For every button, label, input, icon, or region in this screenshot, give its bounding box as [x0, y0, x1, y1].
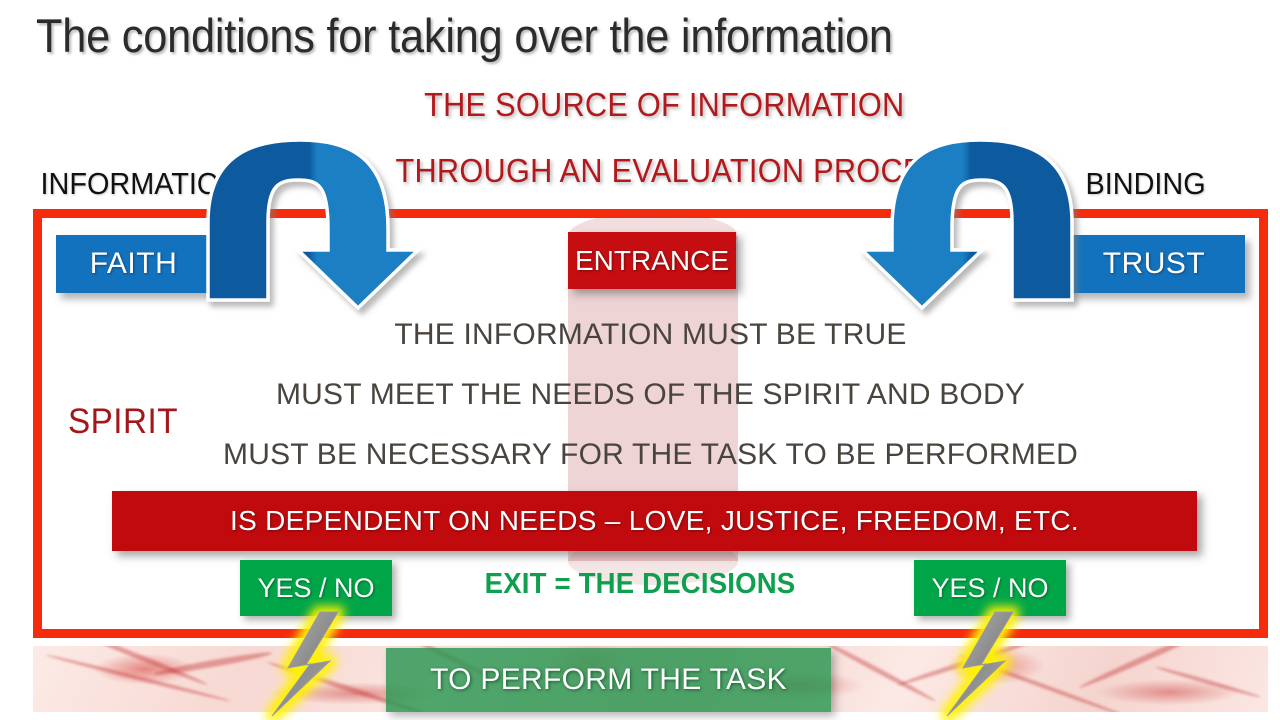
trust-box[interactable]: TRUST: [1063, 235, 1245, 293]
condition-line-3: MUST BE NECESSARY FOR THE TASK TO BE PER…: [33, 438, 1268, 472]
label-binding: BINDING: [1086, 166, 1206, 202]
yes-no-box-left[interactable]: YES / NO: [240, 560, 392, 616]
label-information: INFORMATION: [41, 166, 241, 202]
heading-source-of-information: THE SOURCE OF INFORMATION: [424, 86, 904, 124]
perform-task-box[interactable]: TO PERFORM THE TASK: [386, 648, 831, 712]
faith-box[interactable]: FAITH: [56, 235, 211, 293]
entrance-box[interactable]: ENTRANCE: [568, 232, 736, 289]
exit-decisions-label: EXIT = THE DECISIONS: [450, 568, 830, 601]
condition-line-1: THE INFORMATION MUST BE TRUE: [33, 318, 1268, 352]
page-title: The conditions for taking over the infor…: [36, 8, 893, 63]
slide-canvas: The conditions for taking over the infor…: [0, 0, 1280, 720]
condition-line-2: MUST MEET THE NEEDS OF THE SPIRIT AND BO…: [33, 378, 1268, 412]
yes-no-box-right[interactable]: YES / NO: [914, 560, 1066, 616]
needs-bar: IS DEPENDENT ON NEEDS – LOVE, JUSTICE, F…: [112, 491, 1197, 551]
heading-evaluation-process: THROUGH AN EVALUATION PROCESS: [395, 152, 965, 190]
